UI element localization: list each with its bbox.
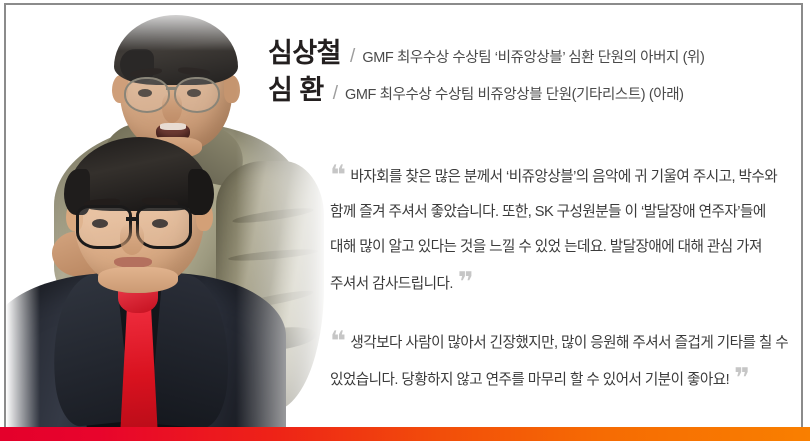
son-glasses-bridge bbox=[126, 217, 138, 221]
person-name: 심 환 bbox=[268, 73, 324, 107]
bottom-accent-bar bbox=[0, 427, 810, 441]
person-description: GMF 최우수상 수상팀 ‘비쥬앙상블’ 심환 단원의 아버지 (위) bbox=[362, 49, 704, 68]
person-header-row: 심 환 / GMF 최우수상 수상팀 비쥬앙상블 단원(기타리스트) (아래) bbox=[268, 73, 798, 107]
son-chin bbox=[98, 267, 178, 293]
photo-subject-son bbox=[6, 125, 290, 427]
quote-text: ❝바자회를 찾은 많은 분께서 ‘비쥬앙상블’의 음악에 귀 기울여 주시고, … bbox=[330, 158, 790, 302]
people-header: 심상철 / GMF 최우수상 수상팀 ‘비쥬앙상블’ 심환 단원의 아버지 (위… bbox=[268, 36, 798, 110]
quote-open-icon: ❝ bbox=[330, 160, 344, 191]
quote-text: ❝생각보다 사람이 많아서 긴장했지만, 많이 응원해 주셔서 즐겁게 기타를 … bbox=[330, 324, 790, 398]
quote-close-icon: ❞ bbox=[734, 363, 748, 394]
quote-close-icon: ❞ bbox=[458, 267, 472, 298]
person-header-row: 심상철 / GMF 최우수상 수상팀 ‘비쥬앙상블’ 심환 단원의 아버지 (위… bbox=[268, 36, 798, 70]
quote-block: ❝바자회를 찾은 많은 분께서 ‘비쥬앙상블’의 음악에 귀 기울여 주시고, … bbox=[330, 158, 790, 302]
testimonial-card: 심상철 / GMF 최우수상 수상팀 ‘비쥬앙상블’ 심환 단원의 아버지 (위… bbox=[0, 0, 810, 441]
son-nose bbox=[120, 223, 144, 255]
quote-line: 생각보다 사람이 많아서 긴장했지만, 많이 응원해 주셔서 bbox=[350, 335, 671, 351]
name-separator: / bbox=[333, 83, 338, 105]
son-glasses-lens-right bbox=[136, 205, 192, 249]
father-glasses-bridge bbox=[166, 87, 176, 90]
quote-open-icon: ❝ bbox=[330, 326, 344, 357]
name-separator: / bbox=[350, 46, 355, 68]
son-hair-side-right bbox=[188, 169, 214, 215]
father-nose bbox=[162, 93, 182, 123]
person-name: 심상철 bbox=[268, 36, 341, 70]
person-description: GMF 최우수상 수상팀 비쥬앙상블 단원(기타리스트) (아래) bbox=[345, 86, 684, 105]
quotes-container: ❝바자회를 찾은 많은 분께서 ‘비쥬앙상블’의 음악에 귀 기울여 주시고, … bbox=[330, 158, 790, 420]
quote-block: ❝생각보다 사람이 많아서 긴장했지만, 많이 응원해 주셔서 즐겁게 기타를 … bbox=[330, 324, 790, 398]
frame-border-right bbox=[801, 3, 803, 427]
quote-line: 바자회를 찾은 많은 분께서 ‘비쥬앙상블’의 음악에 귀 기울여 bbox=[350, 169, 689, 185]
quote-line: 할 수 있어서 기분이 좋아요! bbox=[570, 372, 729, 388]
